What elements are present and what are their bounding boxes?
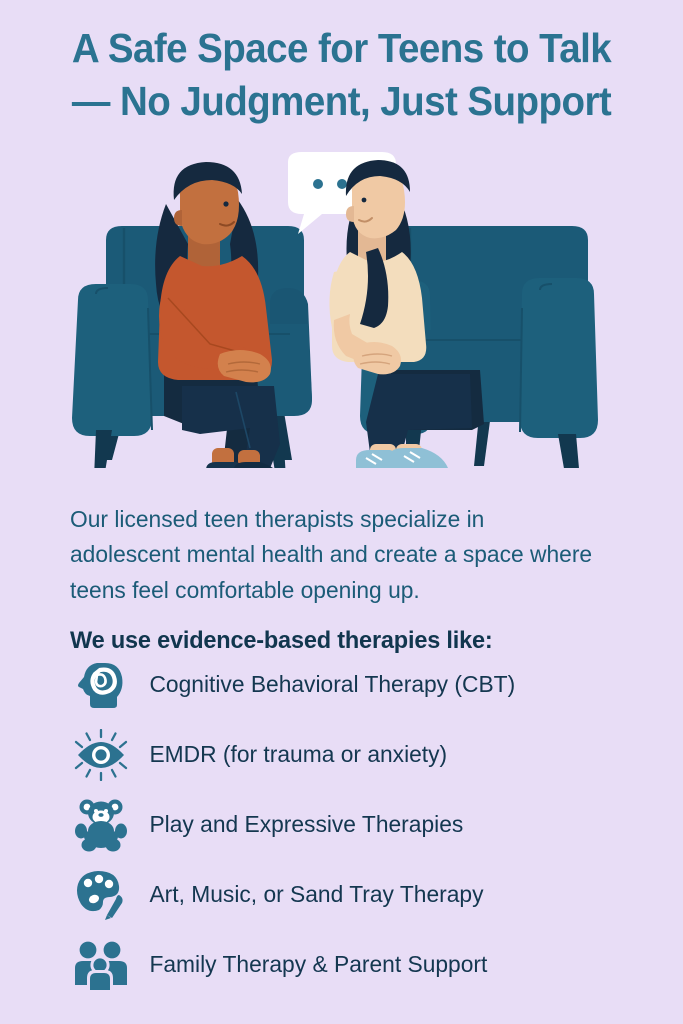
therapy-list-item-play: Play and Expressive Therapies: [70, 790, 670, 860]
eye-rays-icon: [70, 724, 132, 786]
therapy-label: Family Therapy & Parent Support: [132, 952, 487, 978]
bubble-dot-2: [337, 179, 347, 189]
page-title-line-2: — No Judgment, Just Support: [20, 75, 662, 128]
therapy-session-illustration: [60, 148, 623, 468]
lead-paragraph: Our licensed teen therapists specialize …: [70, 502, 599, 610]
teen-left-figure: [155, 162, 282, 468]
therapy-list-item-family: Family Therapy & Parent Support: [70, 930, 670, 1000]
therapy-list-item-cbt: Cognitive Behavioral Therapy (CBT): [70, 650, 670, 720]
bubble-dot-1: [313, 179, 323, 189]
paint-palette-icon: [70, 864, 132, 926]
therapy-list-item-emdr: EMDR (for trauma or anxiety): [70, 720, 670, 790]
therapy-label: EMDR (for trauma or anxiety): [132, 742, 447, 768]
therapy-list-item-art: Art, Music, or Sand Tray Therapy: [70, 860, 670, 930]
page-title-line-1: A Safe Space for Teens to Talk: [20, 22, 662, 75]
poster-root: A Safe Space for Teens to Talk — No Judg…: [0, 0, 683, 1024]
teddy-bear-icon: [70, 794, 132, 856]
therapy-label: Cognitive Behavioral Therapy (CBT): [132, 672, 515, 698]
therapy-list: Cognitive Behavioral Therapy (CBT): [70, 650, 670, 1000]
page-title: A Safe Space for Teens to Talk — No Judg…: [20, 22, 662, 129]
family-group-icon: [70, 934, 132, 996]
therapy-label: Art, Music, or Sand Tray Therapy: [132, 882, 484, 908]
head-brain-icon: [70, 654, 132, 716]
therapy-label: Play and Expressive Therapies: [132, 812, 463, 838]
